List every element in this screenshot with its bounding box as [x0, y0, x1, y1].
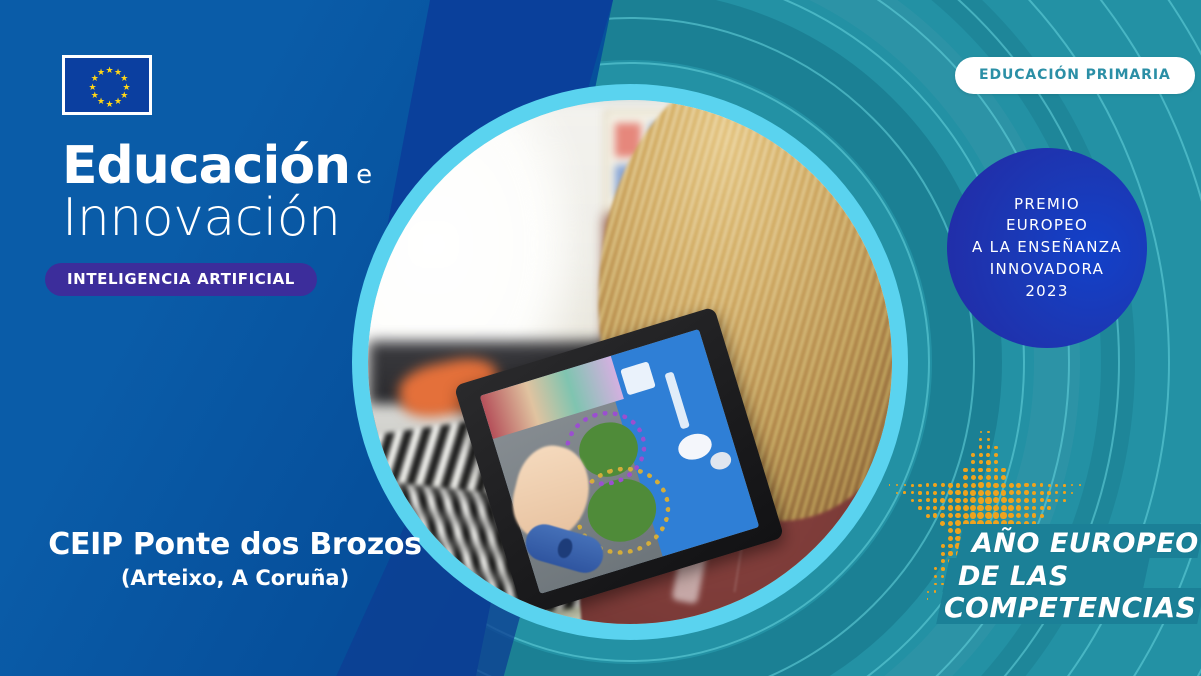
halftone-dot — [1016, 513, 1021, 518]
halftone-dot — [1040, 498, 1044, 502]
title-educacion: Educación — [62, 140, 350, 192]
halftone-dot — [948, 490, 953, 495]
award-line-3: A LA ENSEÑANZA — [972, 237, 1122, 259]
year-logo-line-3: COMPETENCIAS — [944, 591, 1196, 624]
halftone-dot — [918, 484, 921, 487]
halftone-dot — [986, 482, 991, 487]
halftone-dot — [994, 475, 999, 480]
halftone-dot — [941, 491, 946, 496]
halftone-dot — [978, 468, 983, 473]
halftone-dot — [985, 490, 991, 496]
halftone-dot — [926, 491, 930, 495]
halftone-dot — [955, 520, 961, 526]
halftone-dot — [970, 505, 976, 511]
halftone-dot — [948, 521, 953, 526]
halftone-dot — [978, 482, 983, 487]
halftone-dot — [979, 453, 983, 457]
halftone-dot — [955, 498, 960, 503]
halftone-dot — [993, 490, 999, 496]
halftone-dot — [971, 483, 976, 488]
halftone-dot — [1016, 505, 1021, 510]
halftone-dot — [1024, 483, 1028, 487]
halftone-dot — [1079, 484, 1081, 486]
halftone-dot — [1008, 513, 1014, 519]
halftone-dot — [896, 484, 898, 486]
halftone-dot — [1040, 514, 1044, 518]
halftone-dot — [934, 590, 936, 592]
halftone-dot — [926, 506, 930, 510]
poster-canvas: ★★★★★★★★★★★★ Educacióne Innovación INTEL… — [0, 0, 1201, 676]
halftone-dot — [963, 483, 968, 488]
halftone-dot — [911, 484, 914, 487]
halftone-dot — [987, 431, 990, 434]
halftone-dot — [1047, 499, 1051, 503]
year-logo-line-2: DE LAS — [958, 561, 1069, 592]
school-name: CEIP Ponte dos Brozos — [0, 527, 470, 562]
halftone-dot — [1032, 506, 1037, 511]
halftone-dot — [978, 490, 984, 496]
halftone-dot — [940, 498, 945, 503]
halftone-dot — [979, 460, 983, 464]
halftone-dot — [993, 512, 1000, 519]
halftone-dot — [955, 490, 960, 495]
school-location: (Arteixo, A Coruña) — [0, 566, 470, 590]
halftone-dot — [1040, 483, 1044, 487]
eu-star-icon: ★ — [106, 67, 114, 76]
halftone-dot — [1063, 491, 1066, 494]
halftone-dot — [1001, 475, 1006, 480]
halftone-dot — [903, 491, 906, 494]
halftone-dot — [987, 438, 990, 441]
halftone-dot — [1016, 490, 1021, 495]
eu-star-icon: ★ — [89, 84, 97, 93]
halftone-dot — [941, 559, 945, 563]
halftone-dot — [933, 513, 937, 517]
halftone-dot — [1008, 505, 1014, 511]
halftone-dot — [971, 468, 976, 473]
halftone-dot — [1032, 491, 1036, 495]
award-line-1: PREMIO — [972, 194, 1122, 216]
halftone-dot — [1024, 490, 1029, 495]
halftone-dot — [948, 528, 953, 533]
halftone-dot — [941, 544, 945, 548]
halftone-dot — [918, 506, 922, 510]
halftone-dot — [941, 567, 945, 571]
halftone-dot — [911, 499, 914, 502]
halftone-dot — [1024, 513, 1029, 518]
halftone-dot — [955, 528, 961, 534]
halftone-dot — [934, 575, 937, 578]
award-badge: PREMIO EUROPEO A LA ENSEÑANZA INNOVADORA… — [947, 148, 1147, 348]
award-line-5: 2023 — [972, 281, 1122, 303]
halftone-dot — [896, 492, 898, 494]
halftone-dot — [993, 505, 999, 511]
halftone-dot — [971, 475, 976, 480]
halftone-dot — [1024, 506, 1029, 511]
halftone-dot — [941, 552, 945, 556]
halftone-dot — [948, 544, 953, 549]
halftone-dot — [971, 460, 975, 464]
halftone-dot — [963, 490, 968, 495]
halftone-dot — [940, 521, 945, 526]
halftone-dot — [963, 468, 967, 472]
halftone-dot — [948, 505, 953, 510]
halftone-dot — [994, 453, 998, 457]
halftone-dot — [1040, 506, 1044, 510]
halftone-dot — [940, 506, 945, 511]
halftone-dot — [1008, 498, 1014, 504]
halftone-dot — [918, 491, 921, 494]
photo-tablet-screen — [480, 329, 759, 594]
halftone-dot — [985, 512, 992, 519]
halftone-dot — [1001, 468, 1005, 472]
halftone-dot — [1024, 498, 1029, 503]
title-conjunction: e — [356, 160, 372, 190]
halftone-dot — [963, 513, 969, 519]
halftone-dot — [926, 498, 930, 502]
halftone-dot — [978, 497, 984, 503]
halftone-dot — [934, 583, 937, 586]
halftone-dot — [980, 431, 983, 434]
halftone-dot — [1048, 484, 1051, 487]
halftone-dot — [994, 460, 998, 464]
category-badge-inteligencia-artificial: INTELIGENCIA ARTIFICIAL — [45, 263, 317, 296]
halftone-dot — [970, 490, 976, 496]
halftone-dot — [1032, 498, 1036, 502]
halftone-dot — [1001, 490, 1007, 496]
halftone-dot — [927, 591, 929, 593]
halftone-dot — [918, 499, 922, 503]
halftone-dot — [956, 483, 961, 488]
halftone-dot — [1055, 491, 1058, 494]
year-of-skills-logo: AÑO EUROPEO DE LAS COMPETENCIAS — [880, 430, 1201, 630]
halftone-dot — [1055, 499, 1058, 502]
halftone-dot — [963, 475, 968, 480]
halftone-dot — [1001, 497, 1007, 503]
halftone-dot — [1040, 491, 1044, 495]
halftone-dot — [933, 491, 937, 495]
halftone-dot — [955, 513, 961, 519]
halftone-dot — [955, 505, 961, 511]
halftone-dot — [1000, 512, 1006, 518]
halftone-dot — [979, 438, 982, 441]
halftone-dot — [889, 484, 891, 486]
halftone-dot — [993, 497, 999, 503]
halftone-dot — [933, 506, 937, 510]
halftone-dot — [985, 497, 991, 503]
european-union-flag: ★★★★★★★★★★★★ — [62, 55, 152, 115]
halftone-dot — [948, 498, 953, 503]
halftone-dot — [970, 512, 977, 519]
halftone-dot — [927, 598, 929, 600]
halftone-dot — [985, 505, 992, 512]
halftone-dot — [1009, 483, 1014, 488]
award-line-4: INNOVADORA — [972, 259, 1122, 281]
halftone-dot — [1055, 484, 1058, 487]
halftone-dot — [1016, 498, 1021, 503]
halftone-dot — [948, 536, 953, 541]
halftone-dot — [978, 475, 983, 480]
halftone-dot — [941, 483, 945, 487]
halftone-dot — [1071, 484, 1073, 486]
halftone-dot — [963, 498, 969, 504]
halftone-dot — [940, 513, 945, 518]
school-block: CEIP Ponte dos Brozos (Arteixo, A Coruña… — [0, 527, 470, 590]
title-innovacion: Innovación — [62, 190, 482, 246]
halftone-dot — [1047, 491, 1051, 495]
halftone-dot — [904, 484, 906, 486]
eu-star-icon: ★ — [97, 69, 105, 78]
halftone-dot — [1001, 505, 1007, 511]
halftone-dot — [933, 483, 937, 487]
halftone-dot — [963, 505, 969, 511]
halftone-dot — [948, 483, 953, 488]
halftone-dot — [948, 513, 953, 518]
eu-star-icon: ★ — [91, 92, 99, 101]
halftone-dot — [977, 512, 984, 519]
level-badge-educacion-primaria: EDUCACIÓN PRIMARIA — [955, 57, 1195, 94]
halftone-dot — [986, 460, 990, 464]
halftone-dot — [926, 514, 930, 518]
halftone-dot — [994, 468, 999, 473]
halftone-dot — [993, 483, 998, 488]
eu-star-icon: ★ — [106, 101, 114, 110]
halftone-dot — [1001, 483, 1006, 488]
page-title: Educacióne Innovación — [62, 140, 482, 246]
halftone-dot — [986, 468, 991, 473]
halftone-dot — [948, 551, 952, 555]
halftone-dot — [1016, 483, 1021, 488]
halftone-dot — [934, 567, 937, 570]
halftone-dot — [994, 446, 997, 449]
halftone-dot — [941, 575, 944, 578]
halftone-dot — [1071, 492, 1073, 494]
halftone-dot — [977, 505, 984, 512]
halftone-dot — [986, 453, 990, 457]
halftone-dot — [1063, 499, 1066, 502]
halftone-dot — [1047, 506, 1051, 510]
halftone-dot — [1063, 484, 1066, 487]
halftone-dot — [1032, 483, 1036, 487]
halftone-dot — [979, 445, 982, 448]
halftone-dot — [1032, 513, 1037, 518]
halftone-dot — [933, 498, 937, 502]
halftone-dot — [971, 453, 975, 457]
year-logo-line-1: AÑO EUROPEO — [972, 528, 1199, 559]
halftone-dot — [911, 491, 914, 494]
halftone-dot — [986, 475, 991, 480]
eu-star-icon: ★ — [114, 98, 122, 107]
halftone-dot — [970, 497, 976, 503]
award-line-2: EUROPEO — [972, 215, 1122, 237]
halftone-dot — [987, 445, 990, 448]
halftone-dot — [926, 483, 930, 487]
halftone-dot — [1009, 490, 1014, 495]
